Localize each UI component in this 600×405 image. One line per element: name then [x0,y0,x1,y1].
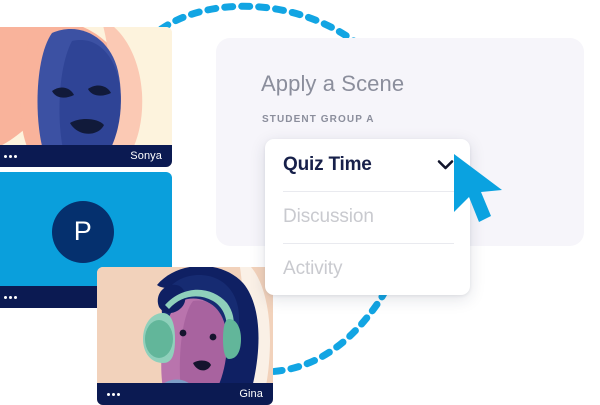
tile-footer-sonya: Sonya [0,145,172,167]
avatar-initial: P [52,201,114,263]
screenshot-root: Sonya P [0,0,600,405]
more-options-icon[interactable] [4,296,17,299]
video-tile-gina[interactable]: Gina [97,267,273,405]
panel-subtitle: STUDENT GROUP A [262,114,375,125]
tile-footer-gina: Gina [97,383,273,405]
dropdown-option-label: Activity [283,258,342,280]
participant-name: Gina [239,388,263,400]
dropdown-selected-label: Quiz Time [283,154,372,176]
video-tile-sonya[interactable]: Sonya [0,27,172,167]
scene-dropdown[interactable]: Quiz Time Discussion Activity [265,139,470,295]
page-title: Apply a Scene [261,71,404,97]
participant-name: Sonya [130,150,162,162]
dropdown-option-activity[interactable]: Activity [265,243,470,295]
dropdown-option-selected[interactable]: Quiz Time [265,139,470,191]
chevron-down-icon[interactable] [437,160,454,171]
more-options-icon[interactable] [4,155,17,158]
dropdown-option-label: Discussion [283,206,374,228]
more-options-icon[interactable] [107,393,120,396]
dropdown-option-discussion[interactable]: Discussion [265,191,470,243]
